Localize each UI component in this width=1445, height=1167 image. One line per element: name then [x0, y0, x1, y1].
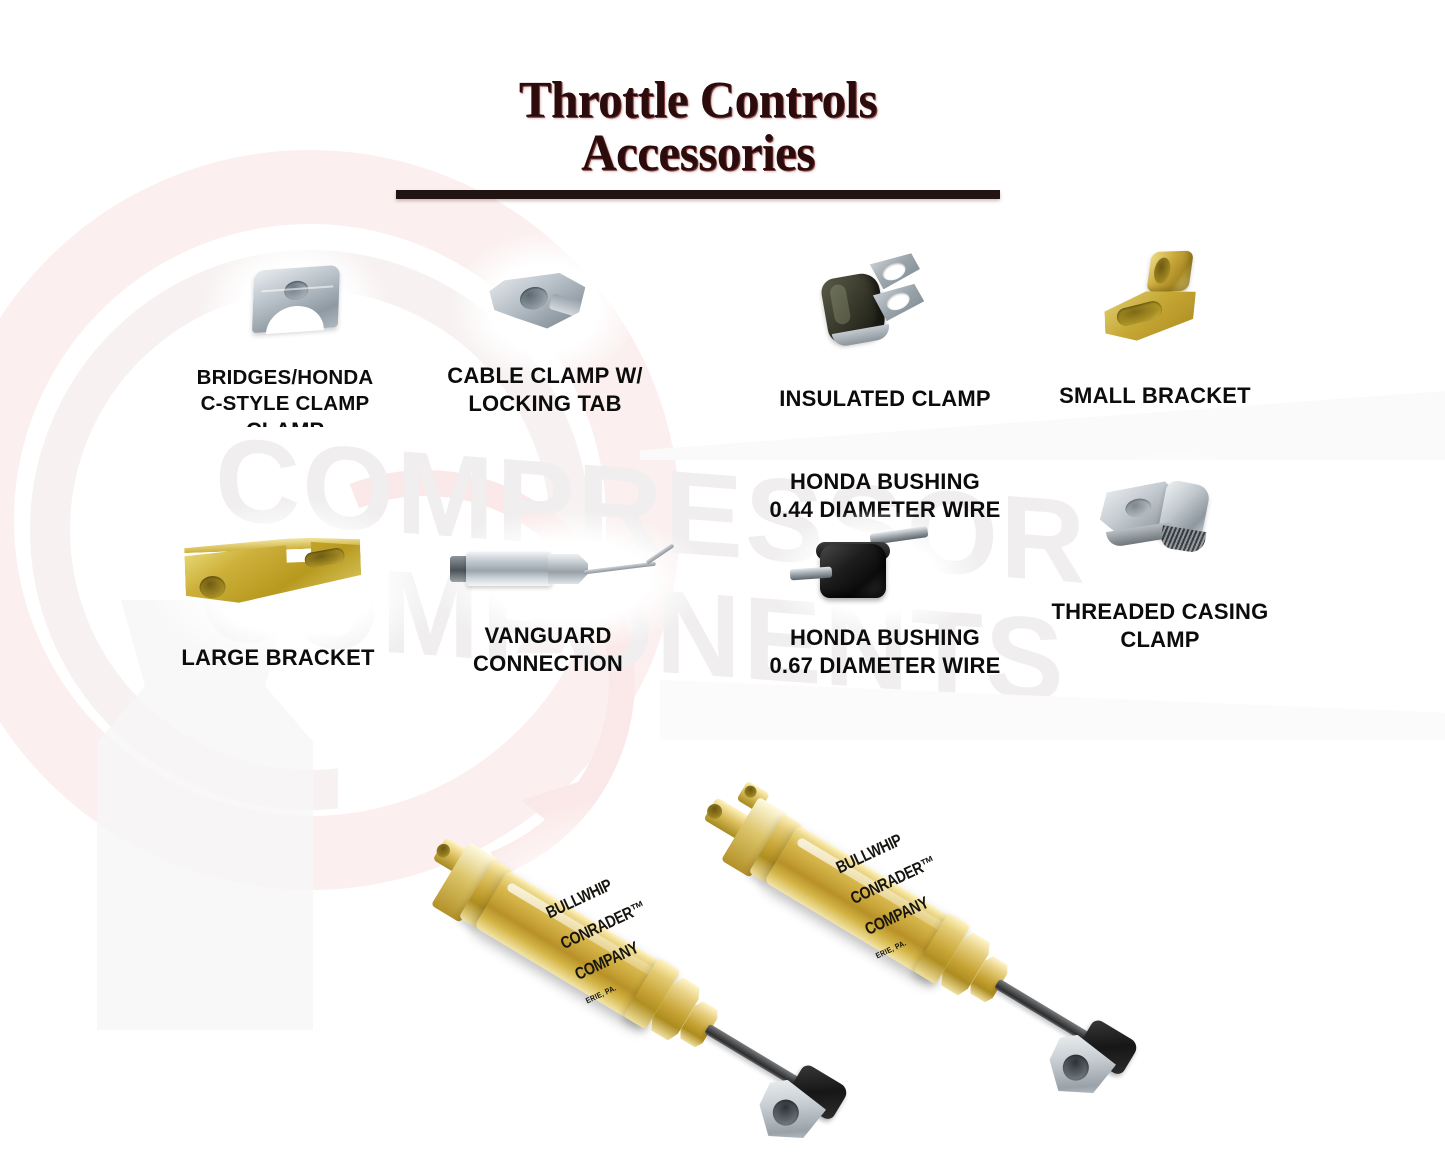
- insulated-clamp-photo: [819, 248, 929, 351]
- cable-clamp-locking-tab-photo: [489, 271, 588, 332]
- page-title-block: Throttle Controls Accessories: [396, 74, 1000, 199]
- label-clipped-text: -CLAMP-: [155, 417, 415, 427]
- label-honda-bushing-067: HONDA BUSHING 0.67 DIAMETER WIRE: [745, 624, 1025, 680]
- label-large-bracket: LARGE BRACKET: [148, 644, 408, 672]
- label-cable-clamp-w-locking-tab: CABLE CLAMP W/ LOCKING TAB: [415, 362, 675, 418]
- label-threaded-casing-clamp: THREADED CASING CLAMP: [1030, 598, 1290, 654]
- label-honda-bushing-044: HONDA BUSHING 0.44 DIAMETER WIRE: [745, 468, 1025, 524]
- vanguard-connection-photo: [448, 542, 678, 598]
- label-small-bracket: SMALL BRACKET: [1025, 382, 1285, 410]
- vanguard-wire: [584, 562, 656, 575]
- small-bracket-photo: [1102, 250, 1205, 345]
- watermark-arrow-head-icon: [521, 782, 592, 844]
- cable-clamp-hole: [517, 284, 550, 312]
- vanguard-barrel: [466, 552, 552, 586]
- vanguard-nut: [548, 554, 588, 584]
- label-bridges-honda-c-style-clamp: BRIDGES/HONDA C-STYLE CLAMP: [155, 365, 415, 417]
- watermark-sweep-lower: [660, 680, 1445, 740]
- title-underline-rule: [396, 190, 1000, 199]
- large-bracket-photo: [184, 529, 363, 613]
- page-title: Throttle Controls Accessories: [414, 74, 982, 180]
- honda-bushing-photo: [798, 528, 930, 606]
- threaded-casing-clamp-photo: [1098, 475, 1212, 567]
- label-vanguard-connection: VANGUARD CONNECTION: [418, 622, 678, 678]
- label-insulated-clamp: INSULATED CLAMP: [755, 385, 1015, 413]
- small-bracket-rolled-tube: [1146, 251, 1194, 293]
- watermark-gear-icon: [0, 150, 680, 890]
- cable-clamp-locking-tab: [549, 293, 584, 318]
- catalog-page: COMPRESSOR COMPONENTS Throttle Controls …: [0, 0, 1445, 1167]
- vanguard-wire-bend: [646, 543, 675, 564]
- label-bridges-honda-clipped-line: -CLAMP-: [155, 417, 415, 427]
- c-style-clamp-photo: [252, 265, 340, 333]
